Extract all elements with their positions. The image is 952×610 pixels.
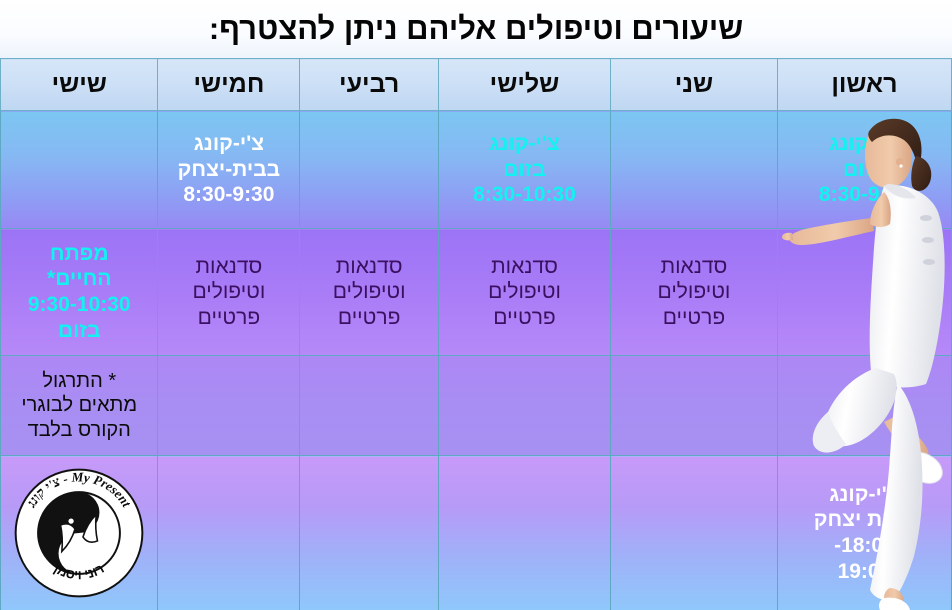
day-label: רביעי — [339, 70, 399, 98]
table-row: סדנאותוטיפוליםפרטיים סדנאותוטיפוליםפרטיי… — [1, 229, 952, 356]
cell-line: פרטיים — [304, 305, 434, 331]
cell-wednesday-workshops: סדנאותוטיפוליםפרטיים — [300, 229, 439, 356]
cell-line: בזום — [5, 318, 153, 344]
cell-line: מתאים לבוגרי — [5, 393, 153, 417]
cell-line: * התרגול — [5, 369, 153, 393]
cell-line: 19:00 — [782, 559, 947, 585]
table-row: * התרגולמתאים לבוגריהקורס בלבד — [1, 356, 952, 456]
cell-line: פרטיים — [162, 305, 295, 331]
cell-friday-logo: My Present - צ'י קונג רוני ויסמן — [1, 456, 158, 610]
cell-line: 8:30-9:30 — [782, 182, 947, 208]
cell-thursday-workshops: סדנאותוטיפוליםפרטיים — [158, 229, 300, 356]
weekly-schedule-table: ראשון שני שלישי רביעי חמישי שישי — [0, 58, 952, 610]
cell-monday-morning — [611, 111, 778, 229]
cell-thursday-morning: צ'י-קונגבבית-יצחק8:30-9:30 — [158, 111, 300, 229]
cell-line: בזום — [443, 157, 606, 183]
table-header-row: ראשון שני שלישי רביעי חמישי שישי — [1, 59, 952, 111]
cell-line: בזום — [782, 157, 947, 183]
day-label: ראשון — [831, 70, 897, 98]
table-row: צ'י-קונגבבית יצחק18:00-19:00 — [1, 456, 952, 610]
cell-content: סדנאותוטיפוליםפרטיים — [300, 254, 438, 331]
cell-content: צ'י-קונגבבית יצחק18:00-19:00 — [778, 482, 951, 584]
day-label: חמישי — [193, 70, 264, 98]
cell-monday-workshops: סדנאותוטיפוליםפרטיים — [611, 229, 778, 356]
column-header-wednesday: רביעי — [300, 59, 439, 111]
page-title-bar: שיעורים וטיפולים אליהם ניתן להצטרף: — [0, 0, 952, 58]
cell-line: 9:30-10:30 — [5, 292, 153, 318]
column-header-tuesday: שלישי — [438, 59, 610, 111]
cell-line: 18:00- — [782, 533, 947, 559]
cell-friday-morning — [1, 111, 158, 229]
cell-line: 8:30-10:30 — [443, 182, 606, 208]
cell-line: צ'י-קונג — [443, 131, 606, 157]
cell-content: צ'י-קונגבבית-יצחק8:30-9:30 — [158, 131, 299, 208]
column-header-friday: שישי — [1, 59, 158, 111]
cell-sunday-morning: צ'י-קונגבזום8:30-9:30 — [777, 111, 951, 229]
cell-tuesday-evening — [438, 456, 610, 610]
cell-sunday-empty — [777, 356, 951, 456]
column-header-monday: שני — [611, 59, 778, 111]
cell-content: סדנאותוטיפוליםפרטיים — [611, 254, 777, 331]
cell-line: צ'י-קונג — [162, 131, 295, 157]
cell-line: מפתח — [5, 241, 153, 267]
cell-line: בבית-יצחק — [162, 157, 295, 183]
column-header-thursday: חמישי — [158, 59, 300, 111]
schedule-page: שיעורים וטיפולים אליהם ניתן להצטרף: ראשו… — [0, 0, 952, 610]
cell-line: פרטיים — [443, 305, 606, 331]
cell-monday-empty — [611, 356, 778, 456]
cell-friday-footnote: * התרגולמתאים לבוגריהקורס בלבד — [1, 356, 158, 456]
cell-thursday-evening — [158, 456, 300, 610]
day-label: שישי — [52, 70, 107, 98]
cell-sunday-workshops — [777, 229, 951, 356]
cell-line: וטיפולים — [304, 279, 434, 305]
cell-line: הקורס בלבד — [5, 418, 153, 442]
cell-wednesday-empty — [300, 356, 439, 456]
day-label: שני — [675, 70, 713, 98]
cell-line: סדנאות — [304, 254, 434, 280]
cell-content: צ'י-קונגבזום8:30-10:30 — [439, 131, 610, 208]
page-title: שיעורים וטיפולים אליהם ניתן להצטרף: — [209, 11, 743, 47]
column-header-sunday: ראשון — [777, 59, 951, 111]
cell-line: וטיפולים — [615, 279, 773, 305]
cell-wednesday-evening — [300, 456, 439, 610]
cell-line: בבית יצחק — [782, 507, 947, 533]
cell-tuesday-empty — [438, 356, 610, 456]
cell-wednesday-morning — [300, 111, 439, 229]
cell-thursday-empty — [158, 356, 300, 456]
cell-content: סדנאותוטיפוליםפרטיים — [158, 254, 299, 331]
cell-line: סדנאות — [162, 254, 295, 280]
cell-line: סדנאות — [615, 254, 773, 280]
table-row: צ'י-קונגבזום8:30-9:30 צ'י-קונגבזום8:30-1… — [1, 111, 952, 229]
cell-line: סדנאות — [443, 254, 606, 280]
cell-content: צ'י-קונגבזום8:30-9:30 — [778, 131, 951, 208]
cell-tuesday-workshops: סדנאותוטיפוליםפרטיים — [438, 229, 610, 356]
brand-logo: My Present - צ'י קונג רוני ויסמן — [13, 467, 145, 599]
cell-friday-workshops: מפתחהחיים*9:30-10:30בזום — [1, 229, 158, 356]
cell-line: וטיפולים — [162, 279, 295, 305]
cell-line: החיים* — [5, 266, 153, 292]
cell-line: צ'י-קונג — [782, 482, 947, 508]
yin-yang-logo-icon: My Present - צ'י קונג רוני ויסמן — [13, 467, 145, 599]
cell-line: צ'י-קונג — [782, 131, 947, 157]
cell-line: וטיפולים — [443, 279, 606, 305]
cell-content: מפתחהחיים*9:30-10:30בזום — [1, 241, 157, 343]
cell-monday-evening — [611, 456, 778, 610]
cell-line: 8:30-9:30 — [162, 182, 295, 208]
cell-line: פרטיים — [615, 305, 773, 331]
cell-sunday-evening: צ'י-קונגבבית יצחק18:00-19:00 — [777, 456, 951, 610]
footnote-text: * התרגולמתאים לבוגריהקורס בלבד — [1, 369, 157, 442]
cell-tuesday-morning: צ'י-קונגבזום8:30-10:30 — [438, 111, 610, 229]
day-label: שלישי — [490, 70, 560, 98]
cell-content: סדנאותוטיפוליםפרטיים — [439, 254, 610, 331]
